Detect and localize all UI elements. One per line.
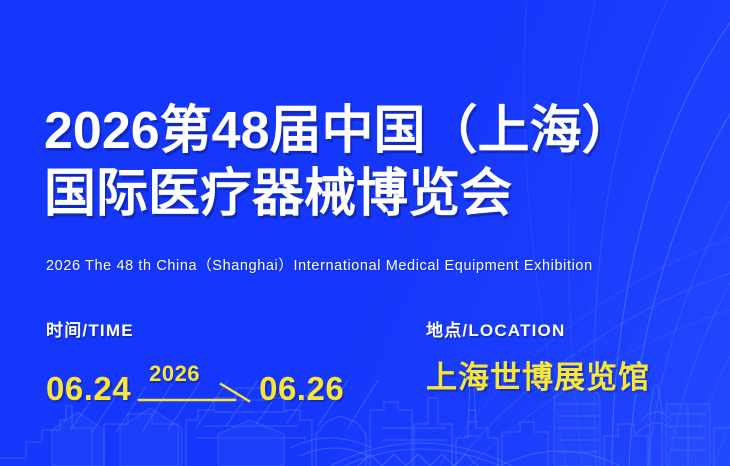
venue-name: 上海世博展览馆 <box>426 360 710 396</box>
end-date: 06.26 <box>259 372 344 406</box>
time-column: 时间/TIME 06.24 2026 06.26 <box>46 320 426 406</box>
time-label: 时间/TIME <box>46 320 426 342</box>
title-line-2: 国际医疗器械博览会 <box>44 163 704 226</box>
date-arrow-graphic: 2026 <box>137 366 255 406</box>
info-row: 时间/TIME 06.24 2026 06.26 地点/LOCATION 上海世… <box>46 320 710 406</box>
page-title: 2026第48届中国（上海） 国际医疗器械博览会 <box>44 100 704 226</box>
banner-content: 2026第48届中国（上海） 国际医疗器械博览会 2026 The 48 th … <box>0 0 730 466</box>
location-column: 地点/LOCATION 上海世博展览馆 <box>426 320 710 406</box>
date-range: 06.24 2026 06.26 <box>46 360 426 406</box>
arrow-line-icon <box>137 382 255 404</box>
location-label: 地点/LOCATION <box>426 320 710 342</box>
title-line-1: 2026第48届中国（上海） <box>44 100 704 163</box>
subtitle-english: 2026 The 48 th China（Shanghai）Internatio… <box>46 256 593 276</box>
exhibition-banner: 2026第48届中国（上海） 国际医疗器械博览会 2026 The 48 th … <box>0 0 730 466</box>
start-date: 06.24 <box>46 372 131 406</box>
